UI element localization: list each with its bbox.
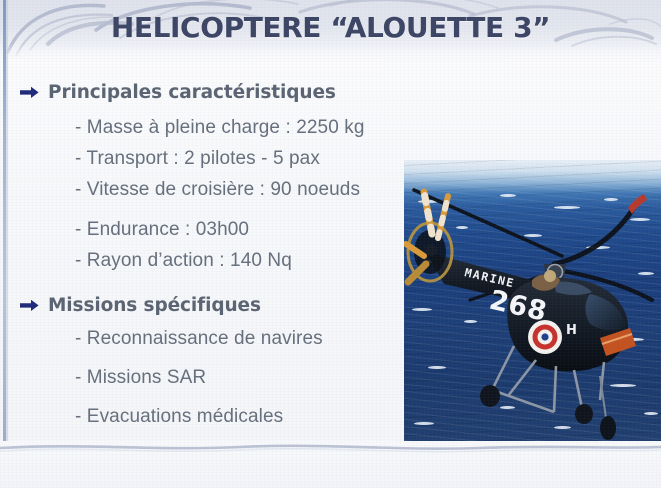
- spec-item-transport: - Transport : 2 pilotes - 5 pax: [75, 148, 320, 170]
- right-arrow-bullet-icon: [20, 86, 39, 99]
- spec-item-endurance: - Endurance : 03h00: [75, 219, 249, 241]
- mission-item-reconnaissance: - Reconnaissance de navires: [75, 328, 323, 350]
- spec-item-masse: - Masse à pleine charge : 2250 kg: [75, 117, 365, 139]
- right-arrow-bullet-icon: [20, 299, 39, 312]
- alouette-3-helicopter: MARINE 268 H: [404, 160, 661, 441]
- page-title: HELICOPTERE “ALOUETTE 3”: [0, 11, 661, 44]
- spec-item-vitesse: - Vitesse de croisière : 90 noeuds: [75, 179, 360, 201]
- section-heading-label: Missions spécifiques: [48, 295, 261, 316]
- section-principales-caracteristiques: Principales caractéristiques - Masse à p…: [0, 82, 430, 103]
- mission-item-evacuations: - Evacuations médicales: [75, 406, 283, 428]
- slide-canvas: HELICOPTERE “ALOUETTE 3” Principales car…: [0, 0, 661, 488]
- section-missions-specifiques: Missions spécifiques - Reconnaissance de…: [0, 295, 430, 316]
- mission-item-sar: - Missions SAR: [75, 367, 206, 389]
- section-heading-row: Missions spécifiques: [0, 295, 430, 316]
- left-accent-rule-soft: [6, 0, 8, 488]
- spec-item-rayon-action: - Rayon d’action : 140 Nq: [75, 250, 292, 272]
- svg-text:H: H: [566, 323, 577, 338]
- helicopter-photo: MARINE 268 H: [404, 160, 661, 441]
- section-heading-row: Principales caractéristiques: [0, 82, 430, 103]
- bottom-wave-divider: [0, 440, 661, 454]
- header-fade-overlay: [0, 44, 661, 60]
- section-heading-label: Principales caractéristiques: [48, 82, 336, 103]
